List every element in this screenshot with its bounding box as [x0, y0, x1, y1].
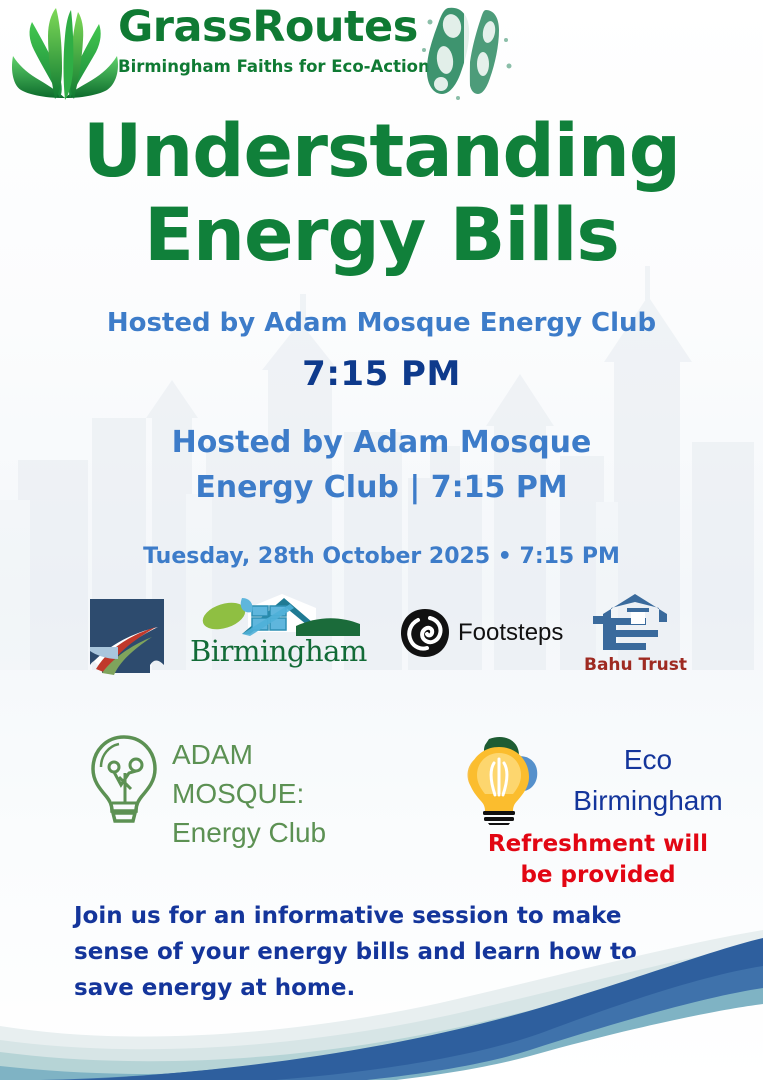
host-block: Hosted by Adam Mosque Energy Club | 7:15… [0, 420, 763, 510]
green-footprint-icon [414, 2, 518, 102]
adam-label-line-1: ADAM [172, 735, 402, 774]
bahu-trust-logo-label: Bahu Trust [583, 654, 688, 676]
birmingham-logo: Birmingham [190, 592, 360, 678]
page-title-line-2: Energy Bills [0, 194, 763, 278]
grass-tuft-icon [8, 6, 123, 102]
adam-label-line-3: Energy Club [172, 813, 402, 852]
council-crest-icon [88, 595, 166, 677]
footsteps-logo-label: Footsteps [458, 617, 563, 649]
birmingham-logo-label: Birmingham [190, 634, 360, 668]
page-title-line-1: Understanding [83, 109, 680, 194]
refreshment-line-2: be provided [448, 860, 748, 891]
brand-header: GrassRoutes Birmingham Faiths for Eco-Ac… [0, 0, 763, 108]
event-date: Tuesday, 28th October 2025 • 7:15 PM [0, 542, 763, 572]
refreshment-notice: Refreshment will be provided [448, 829, 748, 891]
brand-name: GrassRoutes [118, 2, 410, 52]
page-title: Understanding Energy Bills [0, 110, 763, 278]
lightbulb-outline-icon [85, 733, 163, 825]
eco-label-line-1: Eco [548, 739, 748, 780]
host-block-line-2: Energy Club | 7:15 PM [0, 465, 763, 510]
refreshment-line-1: Refreshment will [448, 829, 748, 860]
brand-tagline: Birmingham Faiths for Eco-Action [118, 57, 410, 77]
footsteps-logo: Footsteps [400, 608, 565, 663]
adam-mosque-label: ADAM MOSQUE: Energy Club [172, 735, 402, 852]
event-time: 7:15 PM [0, 352, 763, 396]
event-description: Join us for an informative session to ma… [74, 898, 684, 1006]
bahu-trust-logo: Bahu Trust [583, 592, 688, 680]
eco-birmingham-label: Eco Birmingham [548, 739, 748, 821]
adam-label-line-2: MOSQUE: [172, 774, 402, 813]
lightbulb-color-icon [455, 733, 543, 825]
partner-logos-row-2: ADAM MOSQUE: Energy Club Eco Birmingh [0, 725, 763, 895]
eco-label-line-2: Birmingham [548, 780, 748, 821]
host-line: Hosted by Adam Mosque Energy Club [0, 306, 763, 340]
brand-wordmark: GrassRoutes Birmingham Faiths for Eco-Ac… [118, 2, 410, 77]
host-block-line-1: Hosted by Adam Mosque [0, 420, 763, 465]
footsteps-spiral-icon [400, 608, 450, 658]
partner-logos-row-1: Birmingham Footsteps [0, 592, 763, 697]
event-poster: GrassRoutes Birmingham Faiths for Eco-Ac… [0, 0, 763, 1080]
